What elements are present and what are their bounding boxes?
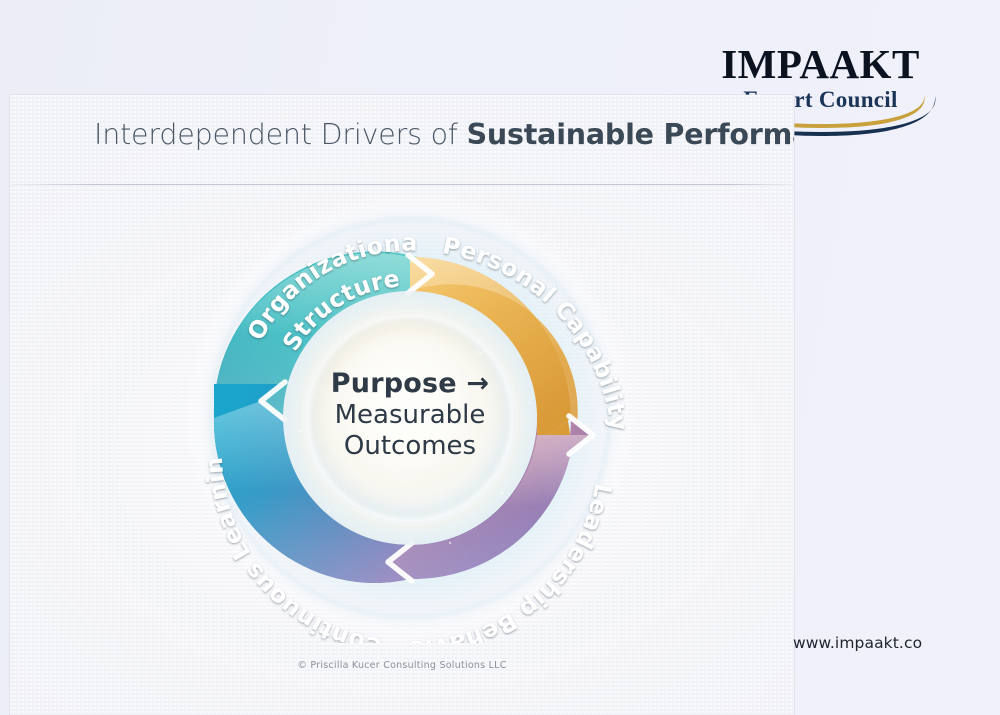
wheel-core-highlight	[322, 330, 498, 506]
cycle-wheel-svg: Organizational Structure Personal Capabi…	[150, 193, 670, 643]
page-title-bold: Sustainable Performance	[467, 118, 794, 151]
slide-header: Interdependent Drivers of Sustainable Pe…	[10, 95, 794, 185]
page-title-light: Interdependent Drivers of	[94, 118, 467, 151]
cycle-diagram: Organizational Structure Personal Capabi…	[150, 193, 670, 643]
title-divider	[10, 184, 794, 185]
page-background: IMPAAKT Expert Council Interdependent Dr…	[0, 0, 1000, 715]
page-title: Interdependent Drivers of Sustainable Pe…	[94, 118, 794, 151]
copyright-notice: © Priscilla Kucer Consulting Solutions L…	[10, 660, 794, 671]
slide-panel: Interdependent Drivers of Sustainable Pe…	[10, 95, 794, 715]
website-url[interactable]: www.impaakt.co	[793, 634, 922, 652]
